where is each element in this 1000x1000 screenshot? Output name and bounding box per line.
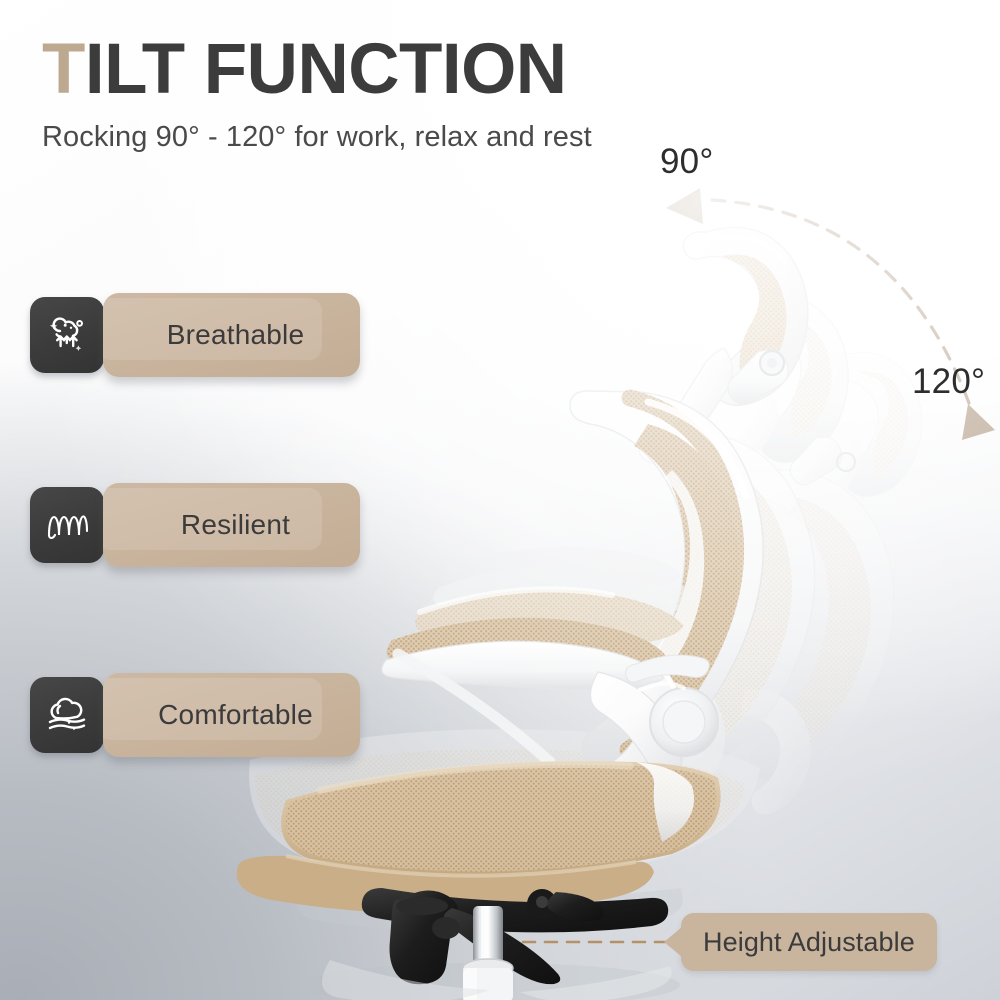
height-callout-label: Height Adjustable — [703, 927, 915, 958]
title-lead-letter: T — [42, 30, 85, 109]
feature-badge-comfortable[interactable]: Comfortable — [30, 673, 360, 757]
feature-label-breathable: Breathable — [103, 319, 360, 351]
feature-panel-breathable: Breathable — [103, 293, 360, 377]
feature-label-comfortable: Comfortable — [103, 699, 360, 731]
header-block: TILT FUNCTION Rocking 90° - 120° for wor… — [42, 34, 742, 154]
feature-panel-comfortable: Comfortable — [103, 673, 360, 757]
infographic-canvas: TILT FUNCTION Rocking 90° - 120° for wor… — [0, 0, 1000, 1000]
page-title: TILT FUNCTION — [42, 34, 742, 105]
page-subtitle: Rocking 90° - 120° for work, relax and r… — [42, 121, 742, 154]
title-rest: ILT FUNCTION — [85, 30, 567, 109]
feature-panel-resilient: Resilient — [103, 483, 360, 567]
height-adjustable-callout[interactable]: Height Adjustable — [681, 913, 937, 971]
cloud-cushion-icon — [30, 677, 104, 753]
feature-badge-resilient[interactable]: Resilient — [30, 483, 360, 567]
airflow-breathable-icon — [30, 297, 104, 373]
feature-badge-breathable[interactable]: Breathable — [30, 293, 360, 377]
feature-label-resilient: Resilient — [103, 509, 360, 541]
angle-label-start: 90° — [660, 142, 714, 182]
spring-coil-icon — [30, 487, 104, 563]
angle-label-end: 120° — [912, 362, 985, 402]
